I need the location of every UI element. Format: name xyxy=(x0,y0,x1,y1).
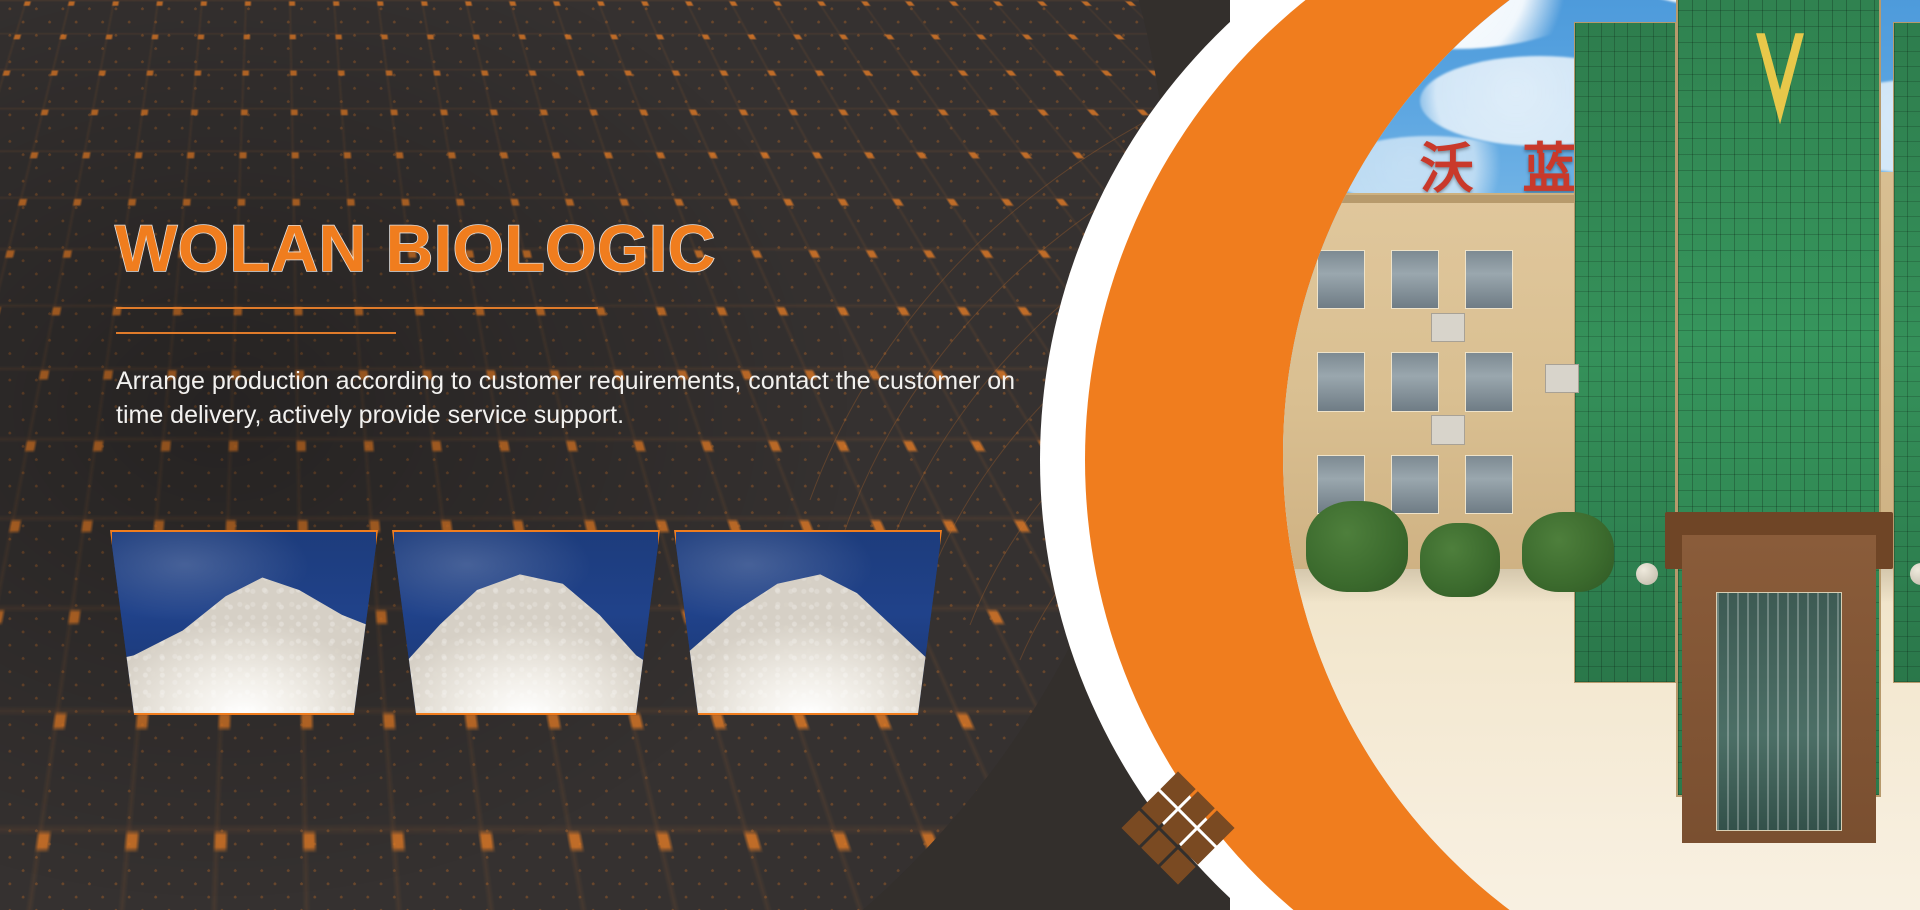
product-thumbnail-1[interactable] xyxy=(110,530,378,715)
building-window xyxy=(1465,352,1513,411)
building-window xyxy=(1317,352,1365,411)
factory-photo-content: 沃 蓝 集 团 xyxy=(1283,0,1920,910)
page-title: WOLAN BIOLOGIC xyxy=(115,210,716,286)
building-window xyxy=(1391,250,1439,309)
building-window xyxy=(1391,455,1439,514)
shrub xyxy=(1306,501,1409,592)
product-thumbnail-3[interactable] xyxy=(674,530,942,715)
building-window xyxy=(1317,250,1365,309)
building-window xyxy=(1465,250,1513,309)
rooftop-sign-char-2: 蓝 xyxy=(1522,142,1576,196)
orange-rule-long xyxy=(116,307,598,309)
shrub xyxy=(1522,512,1613,592)
air-conditioner-unit xyxy=(1431,313,1465,343)
air-conditioner-unit xyxy=(1545,364,1579,394)
building-window xyxy=(1391,352,1439,411)
product-thumbnail-2[interactable] xyxy=(392,530,660,715)
building-window xyxy=(1465,455,1513,514)
air-conditioner-unit xyxy=(1431,415,1465,445)
shrub xyxy=(1420,523,1500,597)
orange-rule-short xyxy=(116,332,396,334)
factory-building-photo: 沃 蓝 集 团 xyxy=(1283,0,1920,910)
entrance-door xyxy=(1716,592,1841,831)
description-paragraph: Arrange production according to customer… xyxy=(116,364,1036,432)
banner-root: 沃 蓝 集 团 xyxy=(0,0,1920,910)
rooftop-sign-char-1: 沃 xyxy=(1420,142,1474,196)
